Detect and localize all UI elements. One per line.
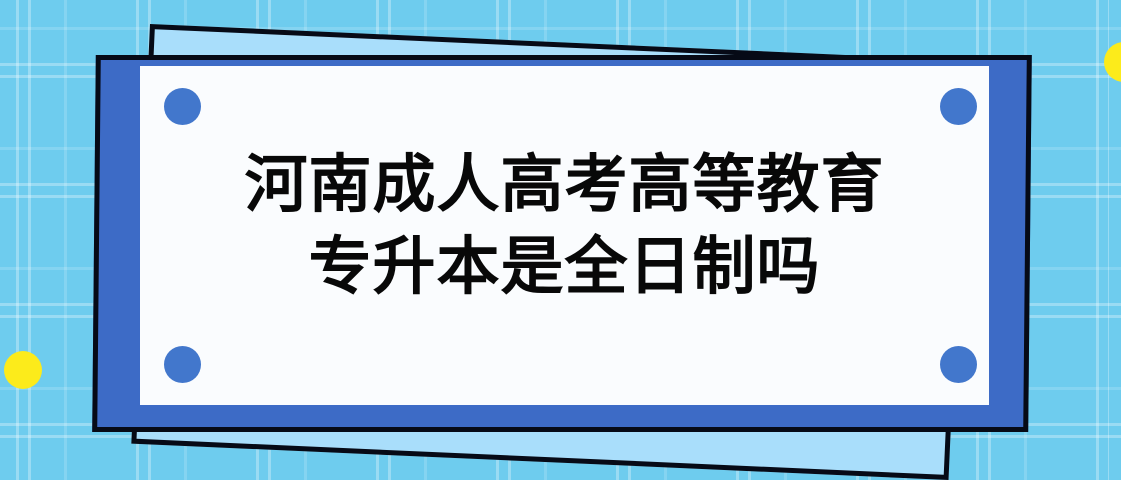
title-line-2: 专升本是全日制吗: [140, 226, 989, 308]
corner-dot-top-right: [940, 88, 977, 125]
white-content-card: 河南成人高考高等教育 专升本是全日制吗: [140, 66, 989, 405]
corner-dot-top-left: [164, 88, 201, 125]
corner-dot-bottom-left: [164, 346, 201, 383]
page-title: 河南成人高考高等教育 专升本是全日制吗: [140, 144, 989, 308]
poster-canvas: 河南成人高考高等教育 专升本是全日制吗: [0, 0, 1121, 480]
corner-dot-bottom-right: [940, 346, 977, 383]
title-line-1: 河南成人高考高等教育: [140, 144, 989, 226]
yellow-dot-left: [4, 351, 42, 389]
